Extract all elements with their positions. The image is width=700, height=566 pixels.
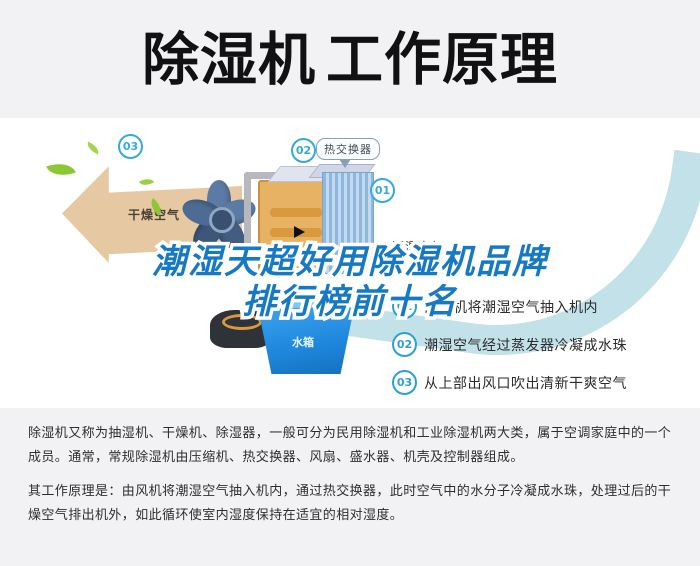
heat-exchanger-unit-icon [258,166,376,278]
evaporator-fins-icon [322,172,374,274]
moist-air-label: 潮湿空气 [392,238,444,255]
coil [272,240,284,276]
diagram-badge-02: 02 [291,138,316,163]
water-tank-label: 水箱 [292,334,314,350]
pipe [244,172,251,248]
step-text: 潮湿空气经过蒸发器冷凝成水珠 [424,335,627,355]
diagram-badge-01: 01 [370,178,395,203]
process-step: 01 由风机将潮湿空气抽入机内 [392,294,692,319]
process-step: 02 潮湿空气经过蒸发器冷凝成水珠 [392,332,692,357]
flow-arrow-icon [294,226,305,238]
page-title: 除湿机工作原理 [142,32,558,89]
step-number: 03 [392,370,417,395]
leaf-icon [46,158,75,180]
title-part-1: 除湿机 [142,27,316,93]
step-number: 02 [392,332,417,357]
step-text: 从上部出风口吹出清新干爽空气 [424,373,627,393]
coil [270,208,322,217]
leaf-icon [85,142,101,155]
heat-exchanger-callout: 热交换器 [316,138,380,160]
diagram-badge-03: 03 [118,134,143,159]
step-text: 由风机将潮湿空气抽入机内 [424,297,598,317]
step-number: 01 [392,294,417,319]
title-bar: 除湿机工作原理 [0,0,700,120]
paragraph-2: 其工作原理是：由风机将潮湿空气抽入机内，通过热交换器，此时空气中的水分子冷凝成水… [28,480,672,528]
paragraph-1: 除湿机又称为抽湿机、干燥机、除湿器，一般可分为民用除湿机和工业除湿机两大类，属于… [28,422,672,470]
fan-hub [209,207,235,233]
flow-arrow-icon [284,244,296,255]
dehumidifier-diagram: 干燥空气 潮湿空气 [0,118,700,408]
article-body: 除湿机又称为抽湿机、干燥机、除湿器，一般可分为民用除湿机和工业除湿机两大类，属于… [0,408,700,566]
infographic-page: 除湿机工作原理 干燥空气 潮湿空气 [0,0,700,566]
process-step: 03 从上部出风口吹出清新干爽空气 [392,370,692,395]
title-part-2: 工作原理 [326,27,558,93]
leaf-icon [139,175,154,188]
process-step-list: 01 由风机将潮湿空气抽入机内 02 潮湿空气经过蒸发器冷凝成水珠 03 从上部… [392,294,692,408]
